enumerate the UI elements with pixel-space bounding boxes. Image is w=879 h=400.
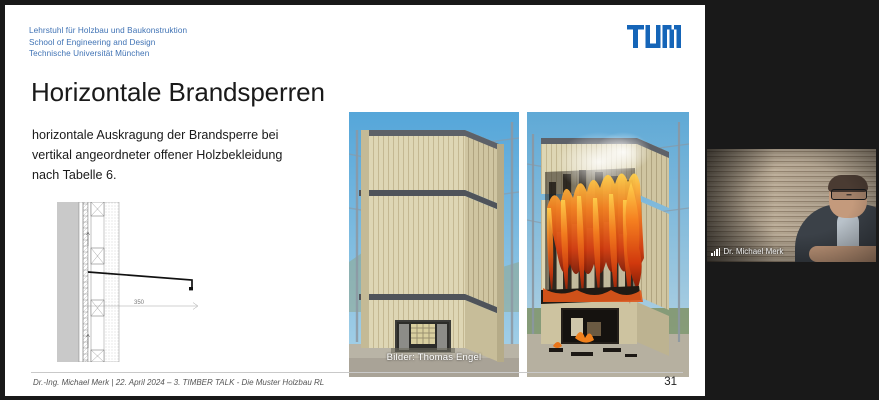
body-line-1: horizontale Auskragung der Brandsperre b… <box>32 125 332 145</box>
participant-name-badge: Dr. Michael Merk <box>711 247 783 256</box>
slide-title: Horizontale Brandsperren <box>31 77 325 108</box>
slide-header-affiliation: Lehrstuhl für Holzbau und Baukonstruktio… <box>29 25 187 60</box>
drawing-dimension-label: 350 <box>134 300 145 306</box>
photo-caption: Bilder: Thomas Engel <box>349 352 519 363</box>
wall-section-detail-drawing: 350 <box>57 202 257 362</box>
body-line-3: nach Tabelle 6. <box>32 165 332 185</box>
affiliation-line-2: School of Engineering and Design <box>29 37 187 49</box>
slide-body-text: horizontale Auskragung der Brandsperre b… <box>32 125 332 185</box>
webcam-vignette <box>707 149 876 262</box>
screen-root: Lehrstuhl für Holzbau und Baukonstruktio… <box>0 0 879 400</box>
participant-name: Dr. Michael Merk <box>723 247 783 256</box>
facade-during-fire-photo <box>527 112 689 377</box>
footer-text: Dr.-Ing. Michael Merk | 22. April 2024 –… <box>33 378 324 387</box>
tum-logo <box>627 25 681 55</box>
affiliation-line-1: Lehrstuhl für Holzbau und Baukonstruktio… <box>29 25 187 37</box>
affiliation-line-3: Technische Universität München <box>29 48 187 60</box>
presentation-slide: Lehrstuhl für Holzbau und Baukonstruktio… <box>5 5 705 396</box>
signal-bars-icon <box>711 248 720 256</box>
footer-divider <box>31 372 683 373</box>
page-number: 31 <box>664 376 677 388</box>
photo-group: Bilder: Thomas Engel <box>349 112 689 377</box>
body-line-2: vertikal angeordneter offener Holzbeklei… <box>32 145 332 165</box>
webcam-video-tile[interactable]: Dr. Michael Merk <box>707 149 876 262</box>
facade-before-fire-photo: Bilder: Thomas Engel <box>349 112 519 377</box>
